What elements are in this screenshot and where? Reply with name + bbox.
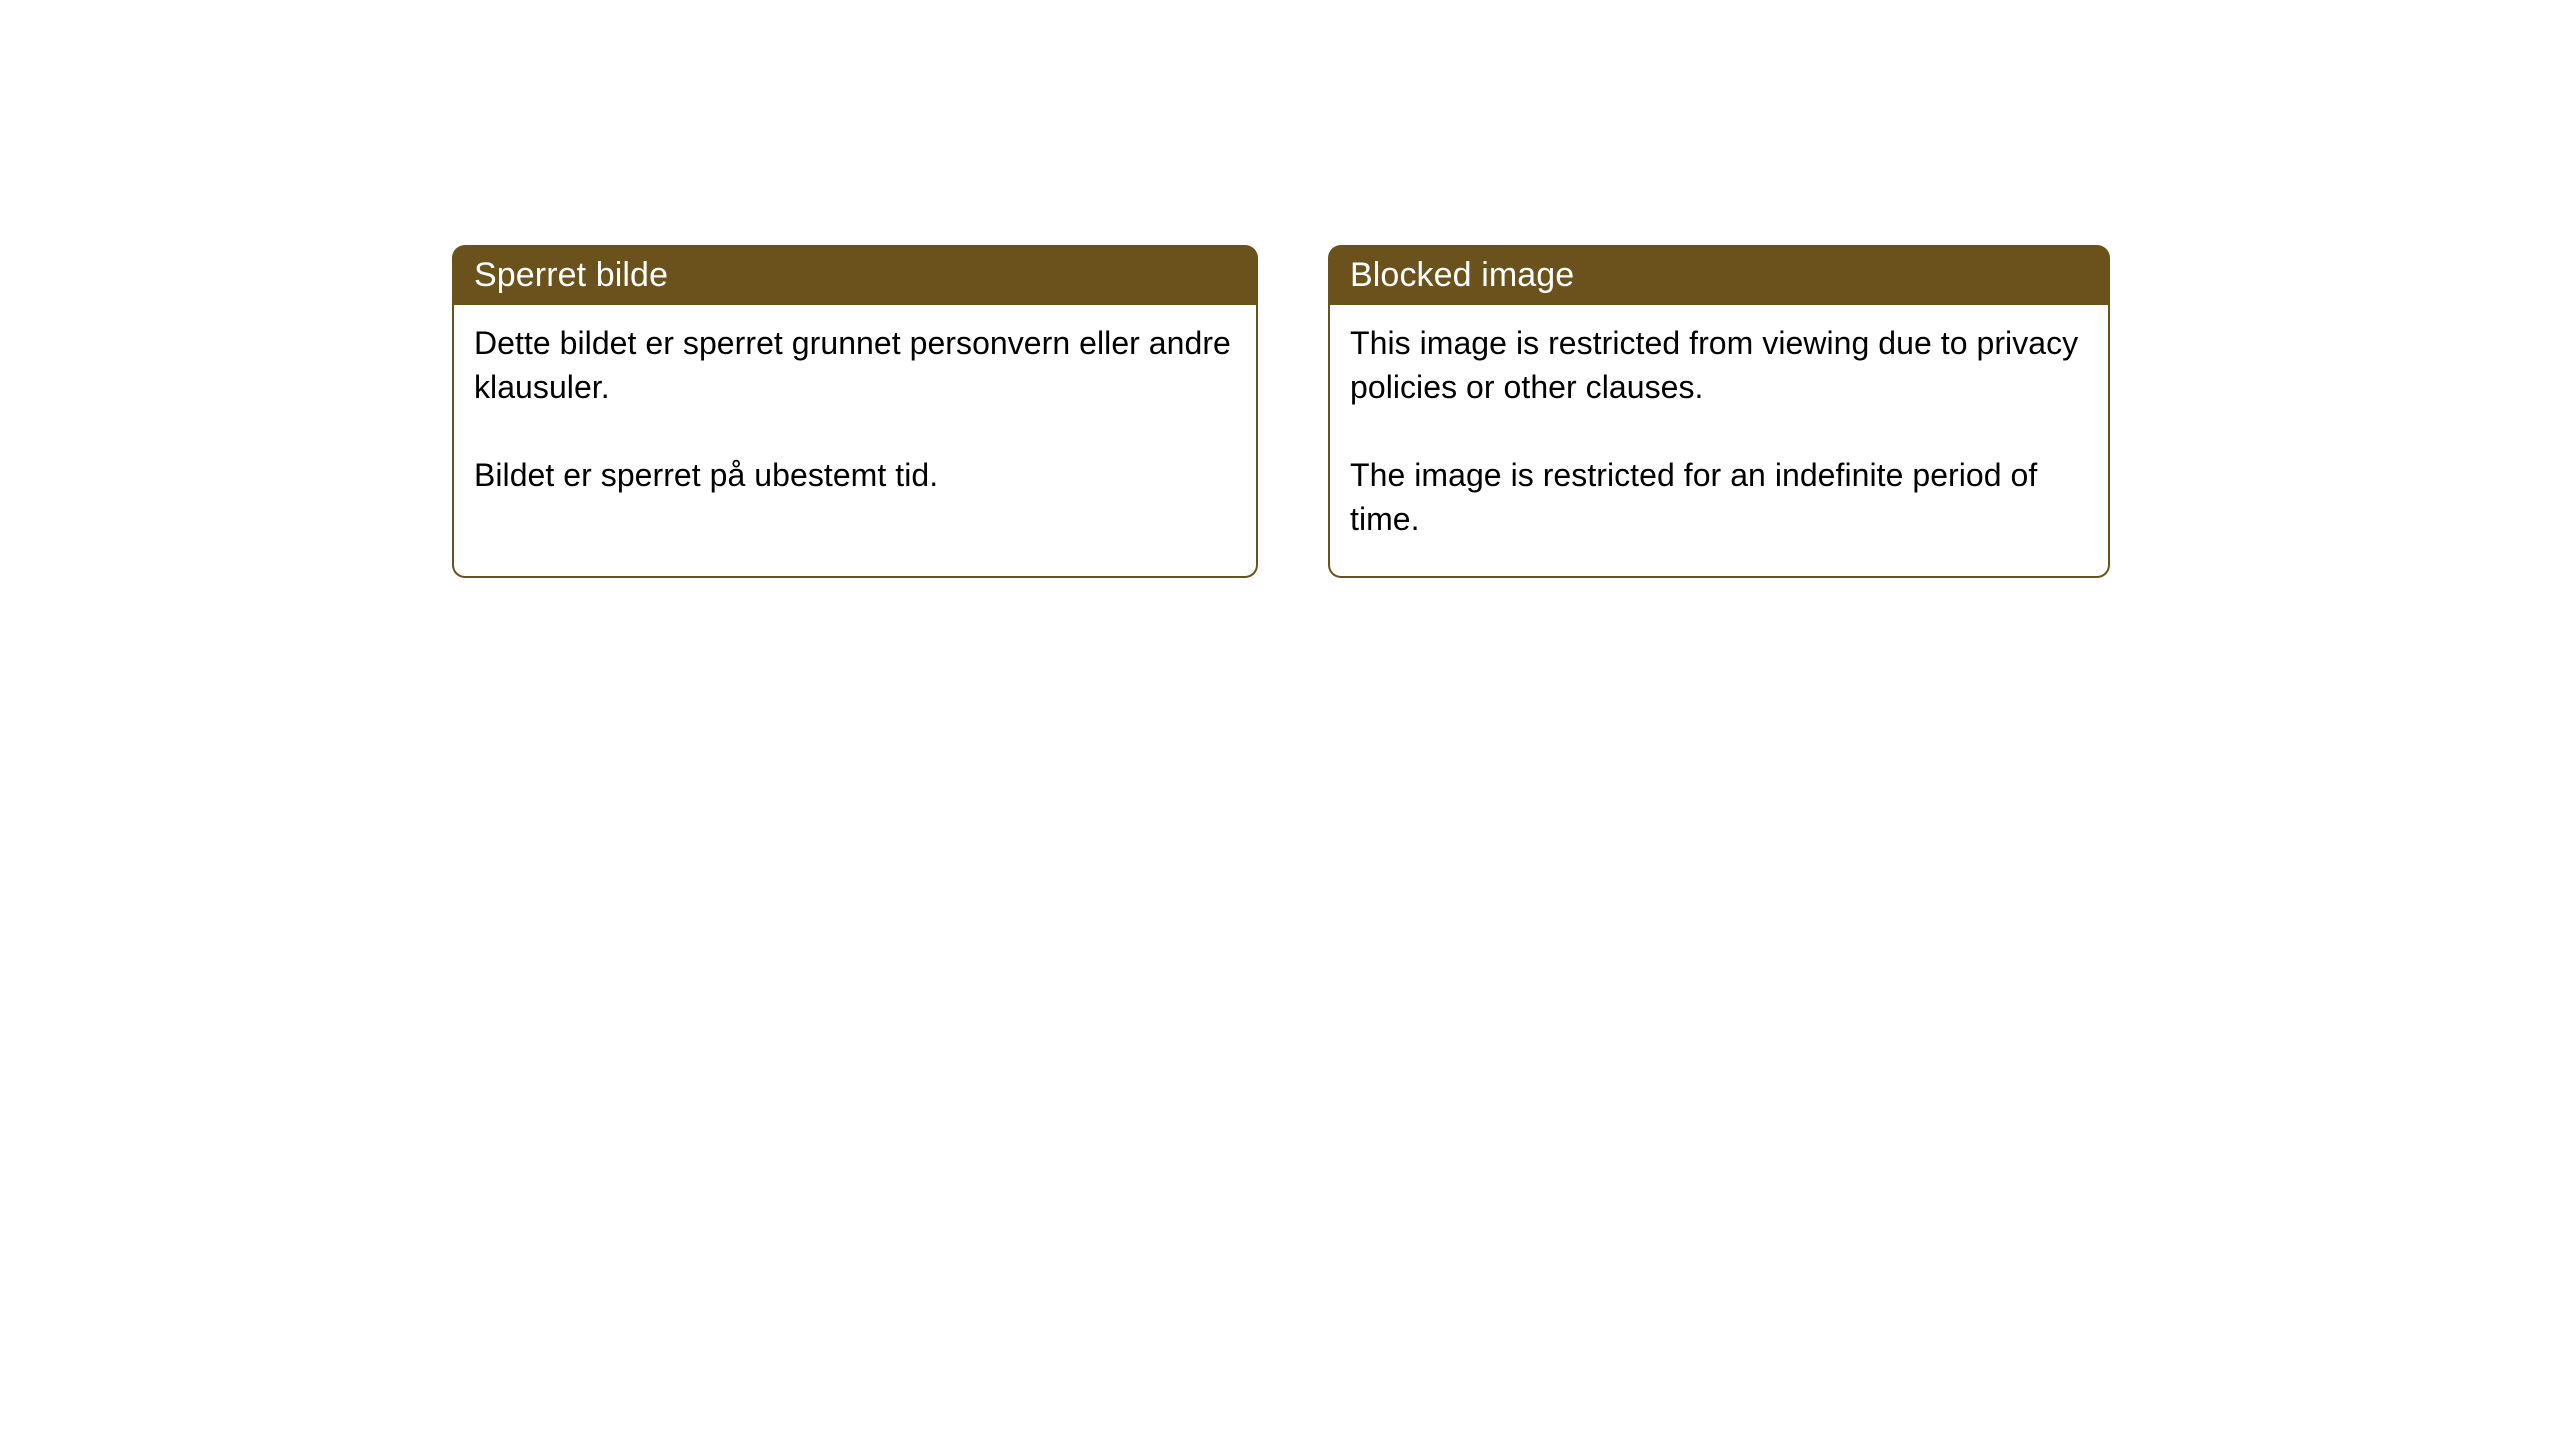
notice-body-no: Dette bildet er sperret grunnet personve… <box>452 305 1258 578</box>
notice-paragraph-duration-no: Bildet er sperret på ubestemt tid. <box>474 453 1238 497</box>
notice-header-no: Sperret bilde <box>452 245 1258 305</box>
notice-title-en: Blocked image <box>1350 255 1574 295</box>
blocked-image-notice-en: Blocked image This image is restricted f… <box>1328 245 2110 578</box>
notice-paragraph-duration-en: The image is restricted for an indefinit… <box>1350 453 2090 541</box>
notice-header-en: Blocked image <box>1328 245 2110 305</box>
blocked-image-notice-no: Sperret bilde Dette bildet er sperret gr… <box>452 245 1258 578</box>
page-canvas: Sperret bilde Dette bildet er sperret gr… <box>0 0 2560 1440</box>
notice-body-en: This image is restricted from viewing du… <box>1328 305 2110 578</box>
notice-paragraph-reason-en: This image is restricted from viewing du… <box>1350 321 2090 409</box>
notice-title-no: Sperret bilde <box>474 255 668 295</box>
notice-paragraph-reason-no: Dette bildet er sperret grunnet personve… <box>474 321 1238 409</box>
